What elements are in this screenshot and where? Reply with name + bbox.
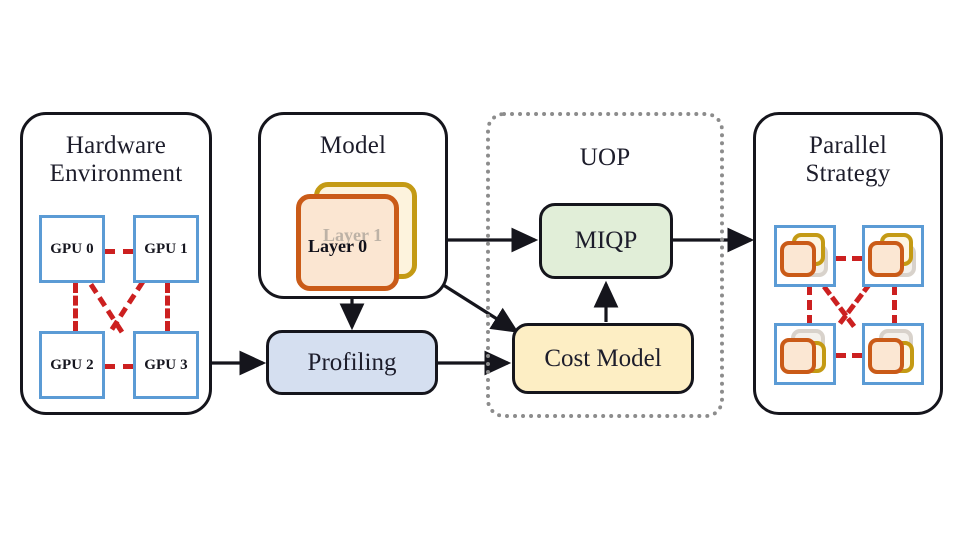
- cost-model-box[interactable]: Cost Model: [512, 323, 694, 394]
- gpu-link-right-vertical: [165, 283, 170, 331]
- strategy-link-right-vertical: [892, 285, 897, 325]
- gpu-link-diagonal-a: [89, 283, 124, 334]
- gpu-box-2[interactable]: GPU 2: [39, 331, 105, 399]
- gpu-box-1[interactable]: GPU 1: [133, 215, 199, 283]
- diagram-canvas: UOP Hardware Environment GPU 0 GPU 1 GPU…: [0, 0, 960, 540]
- hardware-environment-title: Hardware Environment: [23, 132, 209, 189]
- miqp-label: MIQP: [575, 227, 638, 255]
- miqp-box[interactable]: MIQP: [539, 203, 673, 279]
- parallel-strategy-title: Parallel Strategy: [756, 132, 940, 189]
- strategy-link-bottom-horizontal: [836, 353, 862, 358]
- strategy-slot-0[interactable]: [774, 225, 836, 287]
- strategy-slot-1-card-orange: [868, 241, 904, 277]
- model-layer-0-label: Layer 0: [308, 236, 367, 257]
- panel-model: Model Layer 1 Layer 0: [258, 112, 448, 299]
- gpu-box-3[interactable]: GPU 3: [133, 331, 199, 399]
- gpu-box-1-label: GPU 1: [144, 241, 187, 258]
- strategy-slot-2-card-orange: [780, 338, 816, 374]
- uop-title: UOP: [486, 144, 724, 172]
- panel-hardware-environment: Hardware Environment GPU 0 GPU 1 GPU 2 G…: [20, 112, 212, 415]
- strategy-slot-1[interactable]: [862, 225, 924, 287]
- strategy-slot-3-card-orange: [868, 338, 904, 374]
- gpu-link-left-vertical: [73, 283, 78, 331]
- cost-model-label: Cost Model: [544, 345, 661, 373]
- gpu-link-bottom-horizontal: [105, 364, 133, 369]
- strategy-slot-2[interactable]: [774, 323, 836, 385]
- strategy-slot-0-card-orange: [780, 241, 816, 277]
- strategy-slot-3[interactable]: [862, 323, 924, 385]
- gpu-box-0-label: GPU 0: [50, 241, 93, 258]
- profiling-box[interactable]: Profiling: [266, 330, 438, 395]
- gpu-link-diagonal-b: [110, 280, 145, 331]
- gpu-link-top-horizontal: [105, 249, 133, 254]
- strategy-link-diagonal-b: [838, 282, 872, 325]
- strategy-link-left-vertical: [807, 285, 812, 325]
- gpu-box-2-label: GPU 2: [50, 357, 93, 374]
- gpu-box-0[interactable]: GPU 0: [39, 215, 105, 283]
- panel-parallel-strategy: Parallel Strategy: [753, 112, 943, 415]
- model-title: Model: [261, 132, 445, 160]
- profiling-label: Profiling: [308, 349, 397, 377]
- strategy-link-top-horizontal: [836, 256, 862, 261]
- gpu-box-3-label: GPU 3: [144, 357, 187, 374]
